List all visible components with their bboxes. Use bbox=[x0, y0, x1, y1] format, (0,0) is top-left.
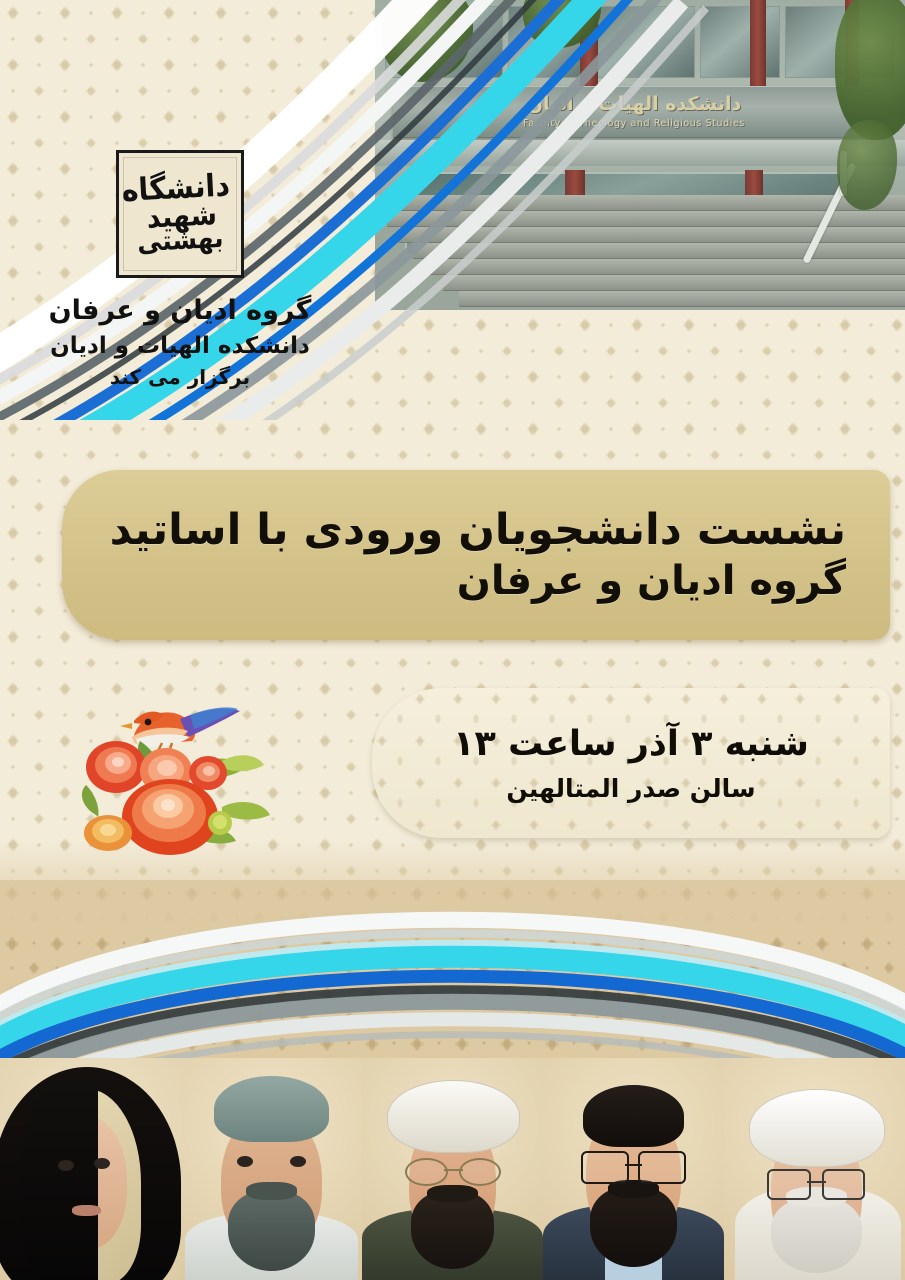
lens-left bbox=[581, 1151, 629, 1184]
glasses-bridge bbox=[807, 1181, 827, 1183]
logo-block: دانشگاه شهید بهشتی گروه ادیان و عرفان دا… bbox=[0, 150, 360, 391]
faculty-portrait-4 bbox=[181, 1058, 362, 1280]
organizer-line-1: گروه ادیان و عرفان bbox=[0, 292, 360, 330]
roses bbox=[84, 741, 232, 855]
logo-line-1: دانشگاه bbox=[121, 171, 231, 205]
mouth bbox=[72, 1205, 101, 1216]
eyeglasses bbox=[581, 1151, 686, 1180]
event-venue: سالن صدر المتالهین bbox=[506, 774, 755, 803]
hair bbox=[583, 1085, 684, 1147]
event-details-box: شنبه ۳ آذر ساعت ۱۳ سالن صدر المتالهین bbox=[372, 688, 890, 838]
white-turban bbox=[387, 1080, 519, 1153]
organizer-text: گروه ادیان و عرفان دانشکده الهیات و ادیا… bbox=[0, 292, 360, 391]
faculty-portrait-1 bbox=[724, 1058, 905, 1280]
moustache bbox=[427, 1185, 478, 1203]
moustache bbox=[246, 1182, 297, 1200]
white-beard bbox=[771, 1198, 862, 1273]
logo-line-3: بهشتی bbox=[124, 226, 237, 257]
gray-hair bbox=[214, 1076, 330, 1143]
faculty-portrait-2 bbox=[543, 1058, 724, 1280]
glasses-bridge bbox=[444, 1169, 463, 1171]
faculty-portrait-3 bbox=[362, 1058, 543, 1280]
white-turban bbox=[749, 1089, 885, 1166]
organizer-line-3: برگزار می کند bbox=[0, 363, 360, 391]
organizer-line-2: دانشکده الهیات و ادیان bbox=[0, 330, 360, 363]
lens-right bbox=[822, 1169, 865, 1200]
gray-beard bbox=[228, 1191, 315, 1271]
lens-left bbox=[405, 1158, 447, 1186]
faculty-portraits-row bbox=[0, 1058, 905, 1280]
title-banner: نشست دانشجویان ورودی با اساتید گروه ادیا… bbox=[62, 470, 890, 640]
eyeglasses bbox=[405, 1158, 501, 1182]
flower-and-bird-illustration bbox=[72, 695, 290, 860]
lens-right bbox=[638, 1151, 686, 1184]
bird-icon bbox=[120, 707, 240, 755]
title-line-1: نشست دانشجویان ورودی با اساتید bbox=[92, 506, 846, 554]
logo-calligraphy: دانشگاه شهید بهشتی bbox=[121, 171, 239, 257]
event-datetime: شنبه ۳ آذر ساعت ۱۳ bbox=[453, 724, 809, 764]
logo-line-2: شهید bbox=[123, 199, 242, 232]
dark-beard bbox=[411, 1191, 494, 1269]
lens-right bbox=[459, 1158, 501, 1186]
faculty-portrait-5 bbox=[0, 1058, 181, 1280]
glasses-bridge bbox=[625, 1164, 642, 1166]
event-poster: دانشکده الهیات و ادیان Faculty of Theolo… bbox=[0, 0, 905, 1280]
lens-left bbox=[767, 1169, 810, 1200]
university-logo: دانشگاه شهید بهشتی bbox=[116, 150, 244, 278]
eye-right bbox=[290, 1156, 306, 1167]
eyeglasses bbox=[767, 1169, 865, 1196]
title-line-2: گروه ادیان و عرفان bbox=[92, 558, 846, 604]
eye-left bbox=[237, 1156, 253, 1167]
black-beard bbox=[590, 1187, 677, 1267]
